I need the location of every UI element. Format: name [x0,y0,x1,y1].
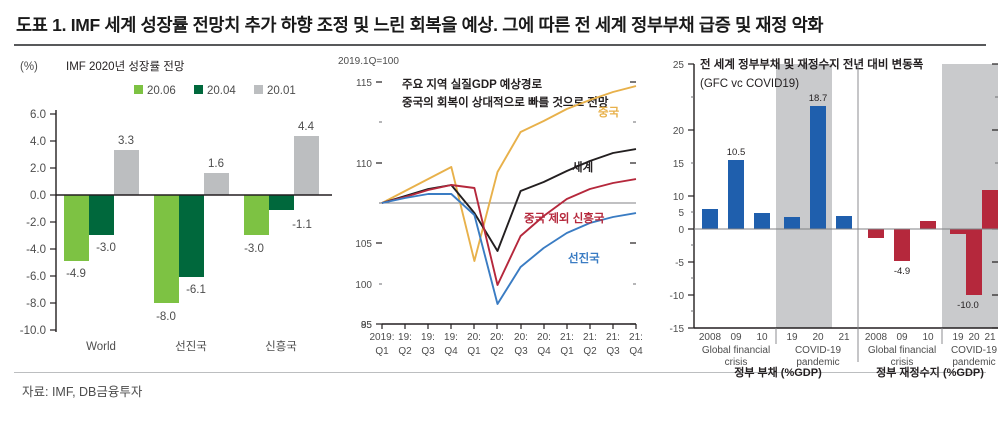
xtick-bot-8: Q1 [560,346,574,357]
page-title: 도표 1. IMF 세계 성장률 전망치 추가 하향 조정 및 느린 회복을 예… [16,12,976,37]
rtick-20: 20 [673,126,685,137]
ytick-3: 0.0 [30,190,46,202]
cat-label-world: World [86,341,116,353]
xlab-deficit-19: 19 [952,332,964,343]
xlab-debt-21: 21 [838,332,850,343]
legend-swatch-20-04 [194,85,203,94]
annotation-line-2: 중국의 회복이 상대적으로 빠를 것으로 전망 [402,95,609,109]
chart-title-line-1: 전 세계 정부부채 및 재정수지 전년 대비 변동폭 [700,57,924,71]
xtick-top-1: 19: [398,332,412,343]
y-tick-labels: 6.0 4.0 2.0 0.0 -2.0 -4.0 -6.0 -8.0 -10.… [20,109,46,337]
xtick-top-10: 21: [606,332,620,343]
rtick-25: 25 [673,60,685,71]
bar-group-advanced: -8.0 -6.1 1.6 선진국 [154,158,229,353]
label-em-2001: 4.4 [298,121,315,133]
chart-debt-deficit-change: 25 20 15 10 5 0 -5 -10 -15 [654,52,998,372]
x-labels-debt-gfc: 2008 09 10 Global financial crisis [699,332,770,368]
label-world-2006: -4.9 [66,268,86,280]
label-world-2001: 3.3 [118,135,134,147]
xtick-bot-4: Q1 [467,346,481,357]
x-tick-labels-top: 2019: 19: 19: 19: 20: 20: 20: 20: 21: 21… [369,332,642,343]
bar-group-emerging: -3.0 -1.1 4.4 신흥국 [244,121,319,353]
bar-em-2001 [294,136,319,195]
legend-swatch-20-06 [134,85,143,94]
label-debt-09: 10.5 [727,147,746,158]
y-ticks [50,114,56,330]
xtick-bot-7: Q4 [537,346,551,357]
rtick-m5: -5 [675,258,684,269]
label-debt-20: 18.7 [809,93,828,104]
ytick-4: -2.0 [26,217,46,229]
xtick-top-8: 21: [560,332,574,343]
bar-world-2001 [114,150,139,195]
figure-page: 도표 1. IMF 세계 성장률 전망치 추가 하향 조정 및 느린 회복을 예… [0,0,1000,425]
xtick-bot-11: Q4 [629,346,643,357]
xlab-debt-19: 19 [786,332,798,343]
bar-debt-21 [836,216,852,229]
rtick-10: 10 [673,192,685,203]
bar-group-world: -4.9 -3.0 3.3 World [64,135,139,353]
bar-debt-09 [728,160,744,229]
chart-title: IMF 2020년 성장률 전망 [66,60,185,73]
ytick-7: -8.0 [26,298,46,310]
x-labels-debt-covid: 19 20 21 COVID-19 pandemic [786,332,850,368]
series-line-world [382,149,636,251]
ytick-5: -4.0 [26,244,46,256]
xtick-bot-2: Q3 [421,346,435,357]
xtick-top-2: 19: [421,332,435,343]
xlab-deficit-10: 10 [922,332,934,343]
chart-real-gdp-path: 2019.1Q=100 115 110 105 100 95 [336,52,654,372]
xtick-bot-3: Q4 [444,346,458,357]
series-label-world: 세계 [572,160,593,174]
xlab-deficit-21: 21 [984,332,996,343]
group-caption-debt: 정부 부채 (%GDP) [698,364,858,380]
xtick-bot-6: Q3 [514,346,528,357]
rtick-m15: -15 [670,324,685,335]
chart-title-line-2: (GFC vc COVID19) [700,78,799,90]
caption-deficit-gfc-1: Global financial [868,345,936,356]
ytick-6: -6.0 [26,271,46,283]
label-adv-2001: 1.6 [208,158,224,170]
ytick-105: 105 [355,239,372,250]
label-deficit-09: -4.9 [894,266,910,277]
real-gdp-svg: 2019.1Q=100 115 110 105 100 95 [336,52,654,372]
bar-adv-2006 [154,195,179,303]
xtick-top-7: 20: [537,332,551,343]
ytick-85: 85 [361,320,373,331]
xlab-debt-20: 20 [812,332,824,343]
rtick-0: 0 [678,225,684,236]
group-caption-deficit: 정부 재정수지 (%GDP) [862,364,998,380]
xlab-deficit-20: 20 [968,332,980,343]
label-em-2006: -3.0 [244,243,264,255]
xlab-debt-09: 09 [730,332,742,343]
series-line-advanced [382,194,636,304]
series-label-em-ex-china: 중국 제외 신흥국 [524,211,605,225]
bar-world-2004 [89,195,114,235]
debt-deficit-svg: 25 20 15 10 5 0 -5 -10 -15 [654,52,998,372]
bar-debt-2008 [702,209,718,229]
ytick-2: 2.0 [30,163,46,175]
y-tick-labels: 115 110 105 100 95 [355,78,372,331]
xtick-top-9: 21: [583,332,597,343]
annotation-line-1: 주요 지역 실질GDP 예상경로 [402,77,543,91]
label-world-2004: -3.0 [96,242,116,254]
bar-deficit-21 [982,190,998,229]
bar-debt-19 [784,217,800,229]
y-ticks-left [376,82,382,324]
bar-group-debt-gfc: 10.5 [702,147,770,229]
xtick-top-3: 19: [444,332,458,343]
bar-deficit-20 [966,229,982,295]
bar-adv-2004 [179,195,204,277]
ytick-110: 110 [356,159,372,170]
label-em-2004: -1.1 [292,219,312,231]
x-labels-deficit-covid: 19 20 21 COVID-19 pandemic [951,332,998,368]
legend-swatch-20-01 [254,85,263,94]
xtick-top-11: 21: [629,332,643,343]
xtick-bot-10: Q3 [606,346,620,357]
cat-label-emerging: 신흥국 [265,339,297,353]
xlab-debt-10: 10 [756,332,768,343]
source-note: 자료: IMF, DB금융투자 [22,381,142,400]
ytick-1: 4.0 [30,136,46,148]
imf-growth-svg: (%) IMF 2020년 성장률 전망 20.06 20.04 20.01 [6,52,336,372]
bar-em-2004 [269,195,294,210]
bar-world-2006 [64,195,89,261]
xtick-top-0: 2019: [369,332,394,343]
chart-imf-growth-forecast: (%) IMF 2020년 성장률 전망 20.06 20.04 20.01 [6,52,336,372]
ytick-8: -10.0 [20,325,46,337]
cat-label-advanced: 선진국 [175,340,207,353]
unit-label: (%) [20,61,38,73]
ytick-115: 115 [356,78,372,89]
bar-deficit-10 [920,221,936,229]
bar-em-2006 [244,195,269,235]
xtick-bot-0: Q1 [375,346,389,357]
x-tick-labels-bottom: Q1 Q2 Q3 Q4 Q1 Q2 Q3 Q4 Q1 Q2 Q3 Q4 [375,346,643,357]
label-deficit-20: -10.0 [957,300,979,311]
series-label-advanced: 선진국 [568,251,600,265]
x-labels-deficit-gfc: 2008 09 10 Global financial crisis [865,332,936,368]
index-unit-label: 2019.1Q=100 [338,56,399,67]
xtick-bot-1: Q2 [398,346,412,357]
bar-debt-20 [810,106,826,229]
caption-deficit-covid-1: COVID-19 [951,345,998,356]
rtick-15: 15 [673,159,685,170]
label-adv-2006: -8.0 [156,311,176,323]
y-ticks [688,64,694,328]
ytick-0: 6.0 [30,109,46,121]
legend-label-20-01: 20.01 [267,85,296,97]
series-label-china: 중국 [598,106,620,119]
title-rule-top [14,44,986,46]
xlab-deficit-2008: 2008 [865,332,888,343]
bar-debt-10 [754,213,770,229]
xtick-bot-5: Q2 [490,346,504,357]
xtick-top-5: 20: [490,332,504,343]
xtick-top-6: 20: [514,332,528,343]
xtick-bot-9: Q2 [583,346,597,357]
bar-deficit-19 [950,229,966,234]
caption-debt-covid-1: COVID-19 [795,345,842,356]
legend-label-20-04: 20.04 [207,85,236,97]
xtick-top-4: 20: [467,332,481,343]
label-adv-2004: -6.1 [186,284,206,296]
legend: 20.06 20.04 20.01 [134,85,296,97]
legend-label-20-06: 20.06 [147,85,176,97]
xlab-deficit-09: 09 [896,332,908,343]
caption-debt-gfc-1: Global financial [702,345,770,356]
bar-adv-2001 [204,173,229,195]
xlab-debt-2008: 2008 [699,332,722,343]
ytick-100: 100 [355,280,372,291]
rtick-5: 5 [678,208,684,219]
rtick-m10: -10 [670,291,685,302]
x-ticks [382,324,636,329]
bar-deficit-09 [894,229,910,261]
bar-deficit-2008 [868,229,884,238]
y-tick-labels: 25 20 15 10 5 0 -5 -10 -15 [670,60,685,335]
